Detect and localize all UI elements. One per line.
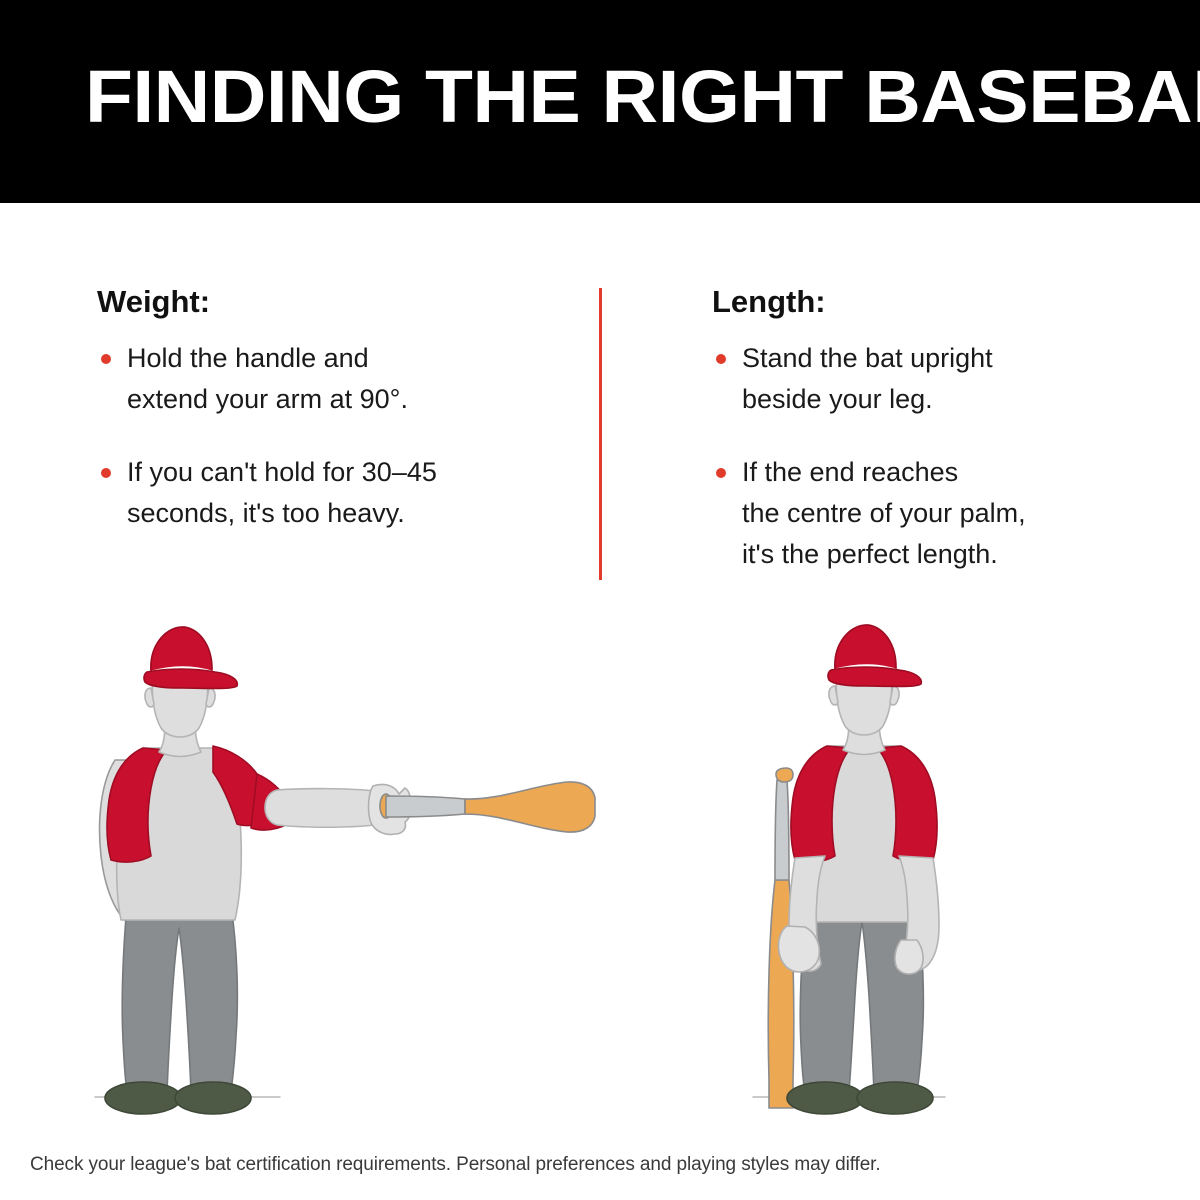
- column-weight: Weight: Hold the handle and extend your …: [97, 284, 567, 534]
- bullet-dot-icon: [716, 468, 726, 478]
- bullet-text: Stand the bat upright beside your leg.: [742, 338, 1112, 420]
- list-item: If you can't hold for 30–45 seconds, it'…: [97, 452, 567, 534]
- column-heading-length: Length:: [712, 284, 1112, 320]
- bullet-dot-icon: [716, 354, 726, 364]
- footer-note: Check your league's bat certification re…: [30, 1152, 881, 1178]
- bullet-dot-icon: [101, 354, 111, 364]
- bullet-text: Hold the handle and extend your arm at 9…: [127, 338, 567, 420]
- bullet-list-weight: Hold the handle and extend your arm at 9…: [97, 338, 567, 534]
- bullet-list-length: Stand the bat upright beside your leg. I…: [712, 338, 1112, 575]
- bullet-text: If you can't hold for 30–45 seconds, it'…: [127, 452, 567, 534]
- list-item: Stand the bat upright beside your leg.: [712, 338, 1112, 420]
- page-title: FINDING THE RIGHT BASEBALL BAT: [85, 58, 1177, 136]
- column-length: Length: Stand the bat upright beside you…: [712, 284, 1112, 575]
- illustration-player-bat-upright: [745, 610, 985, 1120]
- bullet-text: If the end reaches the centre of your pa…: [742, 452, 1112, 575]
- infographic-page: FINDING THE RIGHT BASEBALL BAT Weight: H…: [0, 0, 1200, 1200]
- column-heading-weight: Weight:: [97, 284, 567, 320]
- column-divider: [599, 288, 602, 580]
- illustration-player-arm-extended: [55, 610, 655, 1120]
- bullet-dot-icon: [101, 468, 111, 478]
- header-band: FINDING THE RIGHT BASEBALL BAT: [0, 0, 1200, 203]
- list-item: Hold the handle and extend your arm at 9…: [97, 338, 567, 420]
- list-item: If the end reaches the centre of your pa…: [712, 452, 1112, 575]
- illustration-stage: [0, 600, 1200, 1130]
